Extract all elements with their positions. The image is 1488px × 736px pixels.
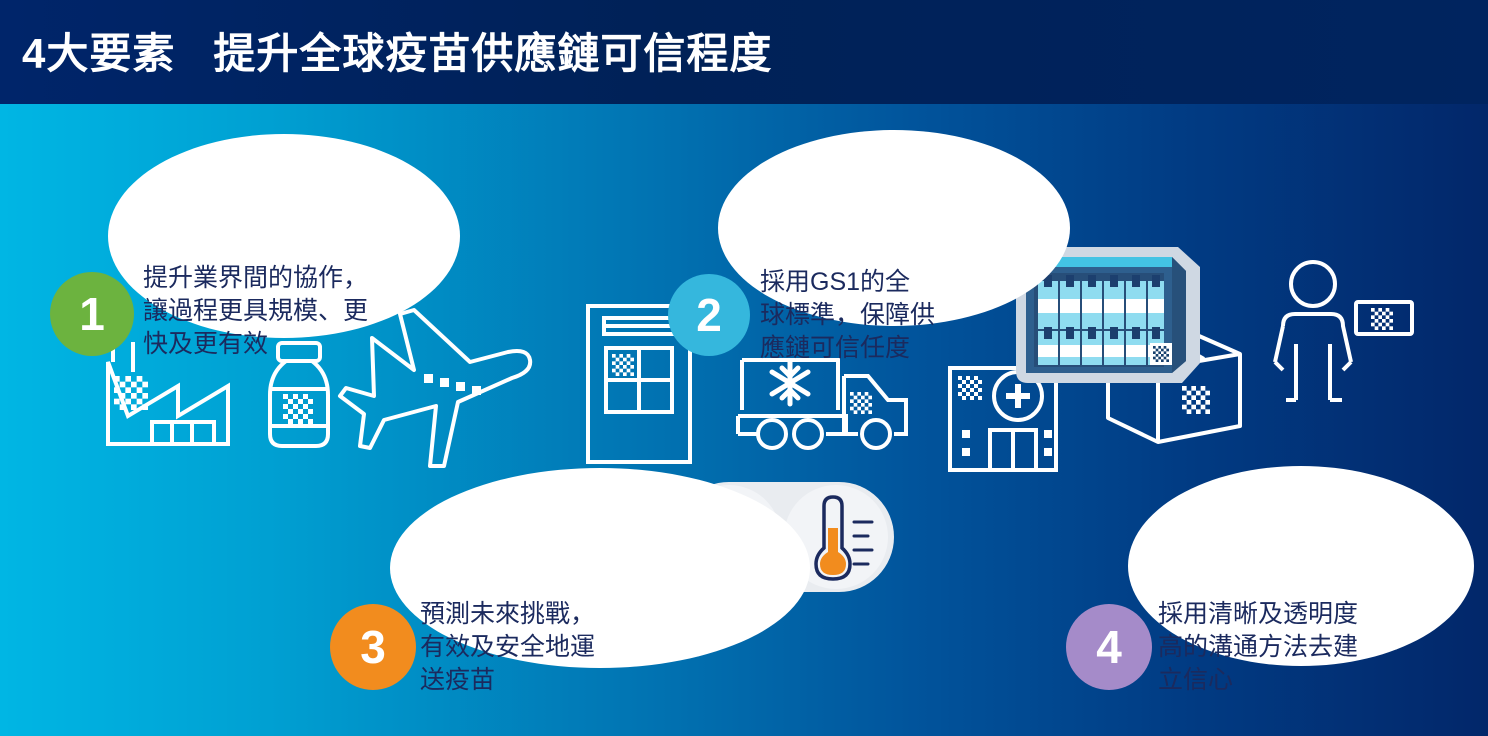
warehouse-datamatrix-icon [612,354,634,376]
refrigerated-truck-icon [738,360,906,448]
infographic-canvas: 1 提升業界間的協作， 讓過程更具規模、更 快及更有效 2 採用GS1的全 球標… [0,104,1488,736]
callout-badge-3: 3 [330,604,416,690]
callout-text-2: 採用GS1的全 球標準，保障供 應鏈可信任度 [760,266,1000,365]
truck-datamatrix-icon [850,392,872,414]
callout-badge-4: 4 [1066,604,1152,690]
callout-badge-2: 2 [668,274,750,356]
callout-badge-1: 1 [50,272,134,356]
patient-scan-icon [1275,262,1412,400]
factory-datamatrix-icon [114,376,148,410]
callout-text-1: 提升業界間的協作， 讓過程更具規模、更 快及更有效 [143,262,433,361]
page-title: 4大要素 提升全球疫苗供應鏈可信程度 [22,20,772,81]
thermometer-icon [816,497,872,579]
header-bar: 4大要素 提升全球疫苗供應鏈可信程度 [0,0,1488,104]
hospital-datamatrix-icon [958,376,982,400]
callout-text-4: 採用清晰及透明度 高的溝通方法去建 立信心 [1158,598,1423,697]
vial-datamatrix-icon [283,394,313,424]
patient-label-datamatrix-icon [1371,308,1393,330]
callout-text-3: 預測未來挑戰， 有效及安全地運 送疫苗 [420,598,670,697]
infographic-root: 4大要素 提升全球疫苗供應鏈可信程度 [0,0,1488,736]
